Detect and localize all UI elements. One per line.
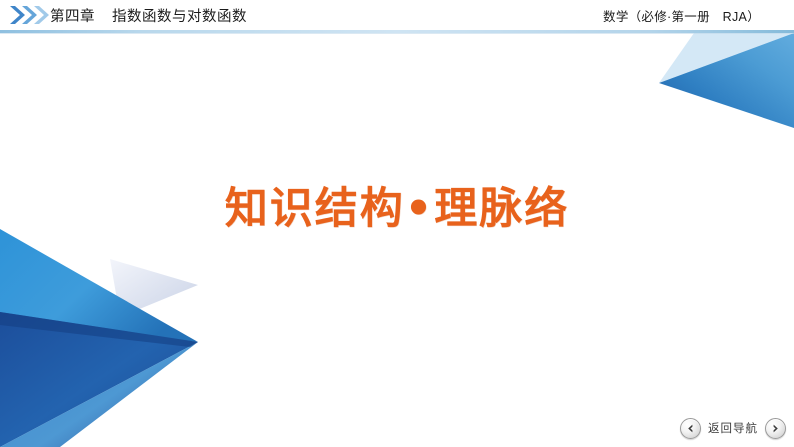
- slide-root: 第四章 指数函数与对数函数 数学（必修·第一册 RJA）: [0, 0, 794, 447]
- arrow-left-icon: [685, 423, 696, 434]
- chapter-title-label: 指数函数与对数函数: [112, 5, 247, 26]
- next-button[interactable]: [765, 418, 786, 439]
- book-edition-label: 数学（必修·第一册 RJA）: [603, 6, 760, 25]
- blue-triangle-top-right-decoration: [634, 33, 794, 133]
- nav-label[interactable]: 返回导航: [708, 420, 758, 436]
- slide-header: 第四章 指数函数与对数函数 数学（必修·第一册 RJA）: [0, 0, 794, 33]
- page-title: 知识结构•理脉络: [225, 174, 569, 236]
- prev-button[interactable]: [680, 418, 701, 439]
- blue-arrow-bottom-left-decoration: [0, 197, 215, 447]
- navigation-bar[interactable]: 返回导航: [680, 416, 786, 440]
- chapter-number-label: 第四章: [50, 5, 95, 26]
- arrow-right-icon: [770, 423, 781, 434]
- header-divider-shadow: [0, 33, 794, 35]
- triple-chevron-right-icon: [8, 4, 52, 26]
